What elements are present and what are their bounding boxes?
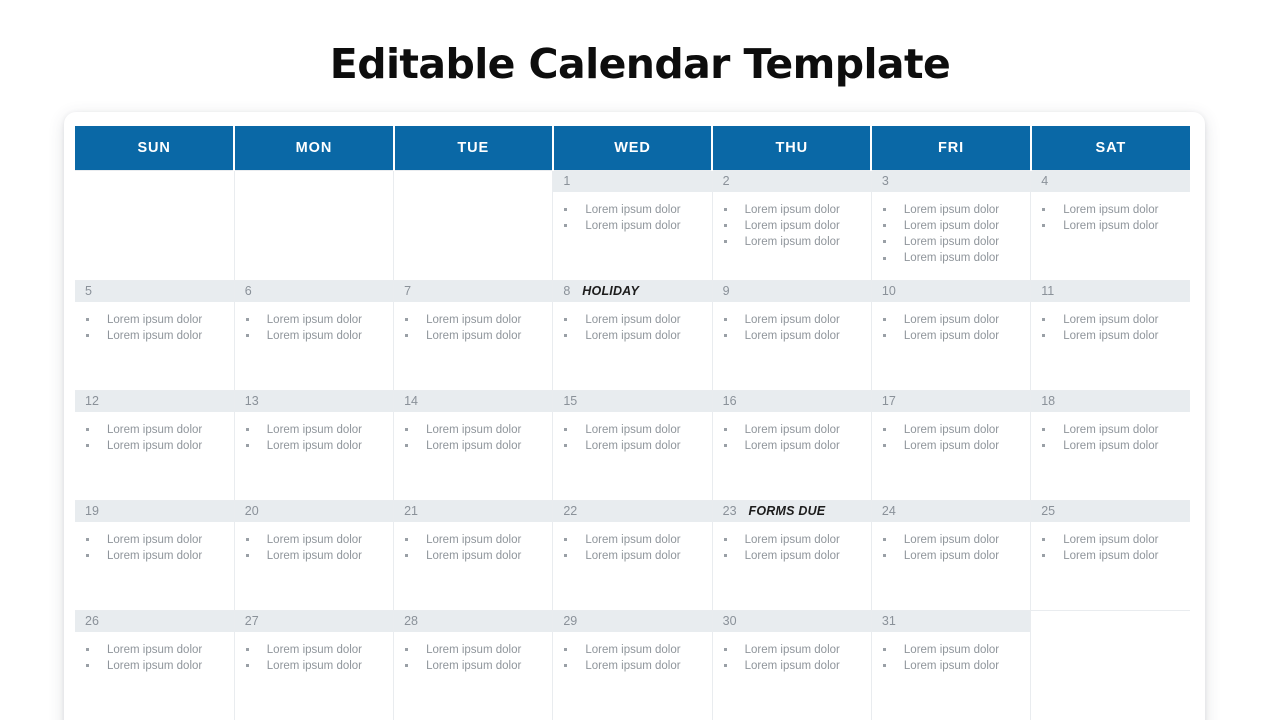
date-number: 19 (85, 505, 99, 518)
date-number: 8 (563, 285, 570, 298)
calendar-day-cell-21[interactable]: 21Lorem ipsum dolorLorem ipsum dolor (394, 500, 553, 610)
date-number: 22 (563, 505, 577, 518)
day-event-list: Lorem ipsum dolorLorem ipsum dolor (235, 522, 393, 564)
calendar-day-cell-26[interactable]: 26Lorem ipsum dolorLorem ipsum dolor (75, 610, 234, 720)
day-event-item[interactable]: Lorem ipsum dolor (723, 642, 865, 658)
day-event-list: Lorem ipsum dolorLorem ipsum dolor (553, 522, 711, 564)
date-band: 29 (553, 611, 711, 632)
day-event-item[interactable]: Lorem ipsum dolor (1041, 422, 1184, 438)
date-band: 8HOLIDAY (553, 281, 711, 302)
date-band: 26 (75, 611, 234, 632)
day-event-item[interactable]: Lorem ipsum dolor (563, 218, 705, 234)
day-event-list: Lorem ipsum dolorLorem ipsum dolor (553, 412, 711, 454)
day-event-item[interactable]: Lorem ipsum dolor (85, 328, 228, 344)
day-event-item[interactable]: Lorem ipsum dolor (1041, 328, 1184, 344)
day-event-item[interactable]: Lorem ipsum dolor (1041, 218, 1184, 234)
day-event-item[interactable]: Lorem ipsum dolor (1041, 532, 1184, 548)
day-event-item[interactable]: Lorem ipsum dolor (563, 642, 705, 658)
day-event-item[interactable]: Lorem ipsum dolor (882, 548, 1024, 564)
calendar-week-row: 5Lorem ipsum dolorLorem ipsum dolor6Lore… (75, 280, 1190, 390)
day-event-item[interactable]: Lorem ipsum dolor (882, 234, 1024, 250)
date-band (75, 171, 234, 192)
day-event-list: Lorem ipsum dolorLorem ipsum dolor (553, 632, 711, 674)
day-event-list: Lorem ipsum dolorLorem ipsum dolor (1031, 412, 1190, 454)
date-number: 15 (563, 395, 577, 408)
day-event-item[interactable]: Lorem ipsum dolor (404, 642, 546, 658)
day-event-item[interactable]: Lorem ipsum dolor (85, 642, 228, 658)
day-event-item[interactable]: Lorem ipsum dolor (723, 532, 865, 548)
date-number: 20 (245, 505, 259, 518)
day-event-item[interactable]: Lorem ipsum dolor (1041, 438, 1184, 454)
date-number: 23 (723, 505, 737, 518)
calendar-day-cell-15[interactable]: 15Lorem ipsum dolorLorem ipsum dolor (553, 390, 712, 500)
day-event-list: Lorem ipsum dolorLorem ipsum dolor (75, 302, 234, 344)
date-number: 7 (404, 285, 411, 298)
calendar-day-cell-19[interactable]: 19Lorem ipsum dolorLorem ipsum dolor (75, 500, 234, 610)
calendar-day-cell-5[interactable]: 5Lorem ipsum dolorLorem ipsum dolor (75, 280, 234, 390)
day-event-item[interactable]: Lorem ipsum dolor (404, 422, 546, 438)
calendar-page: Editable Calendar Template SUNMONTUEWEDT… (0, 0, 1280, 720)
calendar-table: SUNMONTUEWEDTHUFRISAT 1Lorem ipsum dolor… (75, 126, 1190, 720)
date-number: 18 (1041, 395, 1055, 408)
day-event-item[interactable]: Lorem ipsum dolor (404, 548, 546, 564)
date-number: 11 (1041, 285, 1054, 298)
day-event-list: Lorem ipsum dolorLorem ipsum dolor (235, 412, 393, 454)
calendar-body: 1Lorem ipsum dolorLorem ipsum dolor2Lore… (75, 170, 1190, 720)
day-event-item[interactable]: Lorem ipsum dolor (245, 312, 387, 328)
date-number: 29 (563, 615, 577, 628)
day-event-item[interactable]: Lorem ipsum dolor (245, 642, 387, 658)
day-event-item[interactable]: Lorem ipsum dolor (563, 548, 705, 564)
day-event-item[interactable]: Lorem ipsum dolor (404, 658, 546, 674)
date-band: 9 (713, 281, 871, 302)
day-event-item[interactable]: Lorem ipsum dolor (723, 438, 865, 454)
day-event-item[interactable]: Lorem ipsum dolor (563, 422, 705, 438)
day-event-item[interactable]: Lorem ipsum dolor (85, 532, 228, 548)
day-event-item[interactable]: Lorem ipsum dolor (245, 548, 387, 564)
calendar-day-cell-16[interactable]: 16Lorem ipsum dolorLorem ipsum dolor (712, 390, 871, 500)
day-event-item[interactable]: Lorem ipsum dolor (723, 548, 865, 564)
date-number: 4 (1041, 175, 1048, 188)
calendar-day-cell-8[interactable]: 8HOLIDAYLorem ipsum dolorLorem ipsum dol… (553, 280, 712, 390)
calendar-day-cell-6[interactable]: 6Lorem ipsum dolorLorem ipsum dolor (234, 280, 393, 390)
calendar-day-cell-13[interactable]: 13Lorem ipsum dolorLorem ipsum dolor (234, 390, 393, 500)
day-event-list: Lorem ipsum dolorLorem ipsum dolor (75, 412, 234, 454)
date-number: 10 (882, 285, 896, 298)
calendar-day-cell-1[interactable]: 1Lorem ipsum dolorLorem ipsum dolor (553, 170, 712, 280)
day-event-item[interactable]: Lorem ipsum dolor (723, 312, 865, 328)
calendar-day-cell-22[interactable]: 22Lorem ipsum dolorLorem ipsum dolor (553, 500, 712, 610)
date-band: 13 (235, 391, 393, 412)
day-event-item[interactable]: Lorem ipsum dolor (882, 658, 1024, 674)
date-band: 14 (394, 391, 552, 412)
page-title: Editable Calendar Template (0, 40, 1280, 88)
date-band: 21 (394, 501, 552, 522)
calendar-day-cell-30[interactable]: 30Lorem ipsum dolorLorem ipsum dolor (712, 610, 871, 720)
weekday-header-mon: MON (234, 126, 393, 170)
day-event-item[interactable]: Lorem ipsum dolor (882, 438, 1024, 454)
day-event-item[interactable]: Lorem ipsum dolor (723, 422, 865, 438)
day-event-item[interactable]: Lorem ipsum dolor (404, 328, 546, 344)
calendar-day-cell-12[interactable]: 12Lorem ipsum dolorLorem ipsum dolor (75, 390, 234, 500)
date-band: 24 (872, 501, 1030, 522)
date-band (394, 171, 552, 192)
day-event-item[interactable]: Lorem ipsum dolor (404, 312, 546, 328)
date-band (1031, 611, 1190, 632)
calendar-day-cell-18[interactable]: 18Lorem ipsum dolorLorem ipsum dolor (1031, 390, 1190, 500)
calendar-day-cell-23[interactable]: 23FORMS DUELorem ipsum dolorLorem ipsum … (712, 500, 871, 610)
date-number: 21 (404, 505, 418, 518)
weekday-header-fri: FRI (871, 126, 1030, 170)
day-event-list: Lorem ipsum dolorLorem ipsum dolorLorem … (872, 192, 1030, 267)
date-band: 23FORMS DUE (713, 501, 871, 522)
calendar-day-cell-2[interactable]: 2Lorem ipsum dolorLorem ipsum dolorLorem… (712, 170, 871, 280)
day-event-list: Lorem ipsum dolorLorem ipsum dolor (553, 302, 711, 344)
day-event-item[interactable]: Lorem ipsum dolor (723, 218, 865, 234)
day-event-item[interactable]: Lorem ipsum dolor (882, 642, 1024, 658)
calendar-day-cell-empty[interactable] (75, 170, 234, 280)
date-number: 14 (404, 395, 418, 408)
day-event-item[interactable]: Lorem ipsum dolor (85, 312, 228, 328)
calendar-day-cell-3[interactable]: 3Lorem ipsum dolorLorem ipsum dolorLorem… (871, 170, 1030, 280)
day-event-item[interactable]: Lorem ipsum dolor (882, 250, 1024, 266)
day-event-list: Lorem ipsum dolorLorem ipsum dolor (872, 522, 1030, 564)
calendar-week-row: 19Lorem ipsum dolorLorem ipsum dolor20Lo… (75, 500, 1190, 610)
day-event-item[interactable]: Lorem ipsum dolor (85, 438, 228, 454)
calendar-week-row: 12Lorem ipsum dolorLorem ipsum dolor13Lo… (75, 390, 1190, 500)
day-event-item[interactable]: Lorem ipsum dolor (245, 328, 387, 344)
day-event-list: Lorem ipsum dolorLorem ipsum dolor (75, 522, 234, 564)
calendar-day-cell-31[interactable]: 31Lorem ipsum dolorLorem ipsum dolor (871, 610, 1030, 720)
date-band: 7 (394, 281, 552, 302)
date-band (235, 171, 393, 192)
date-band: 6 (235, 281, 393, 302)
day-event-item[interactable]: Lorem ipsum dolor (563, 658, 705, 674)
date-band: 25 (1031, 501, 1190, 522)
date-number: 17 (882, 395, 896, 408)
date-number: 25 (1041, 505, 1055, 518)
date-number: 1 (563, 175, 570, 188)
day-event-list: Lorem ipsum dolorLorem ipsum dolorLorem … (713, 192, 871, 251)
day-event-list: Lorem ipsum dolorLorem ipsum dolor (394, 522, 552, 564)
calendar-day-cell-empty[interactable] (394, 170, 553, 280)
date-band: 10 (872, 281, 1030, 302)
day-event-list: Lorem ipsum dolorLorem ipsum dolor (394, 412, 552, 454)
date-band: 11 (1031, 281, 1190, 302)
day-event-item[interactable]: Lorem ipsum dolor (85, 658, 228, 674)
day-event-item[interactable]: Lorem ipsum dolor (1041, 312, 1184, 328)
day-event-item[interactable]: Lorem ipsum dolor (563, 312, 705, 328)
calendar-week-row: 1Lorem ipsum dolorLorem ipsum dolor2Lore… (75, 170, 1190, 280)
date-band: 27 (235, 611, 393, 632)
date-band: 1 (553, 171, 711, 192)
date-number: 12 (85, 395, 99, 408)
date-number: 3 (882, 175, 889, 188)
calendar-day-cell-empty[interactable] (234, 170, 393, 280)
day-event-item[interactable]: Lorem ipsum dolor (563, 438, 705, 454)
calendar-day-cell-27[interactable]: 27Lorem ipsum dolorLorem ipsum dolor (234, 610, 393, 720)
calendar-day-cell-29[interactable]: 29Lorem ipsum dolorLorem ipsum dolor (553, 610, 712, 720)
calendar-day-cell-9[interactable]: 9Lorem ipsum dolorLorem ipsum dolor (712, 280, 871, 390)
date-number: 31 (882, 615, 896, 628)
day-event-item[interactable]: Lorem ipsum dolor (404, 438, 546, 454)
day-event-list: Lorem ipsum dolorLorem ipsum dolor (872, 412, 1030, 454)
day-event-list: Lorem ipsum dolorLorem ipsum dolor (75, 632, 234, 674)
date-band: 2 (713, 171, 871, 192)
date-band: 4 (1031, 171, 1190, 192)
day-event-item[interactable]: Lorem ipsum dolor (1041, 202, 1184, 218)
date-number: 13 (245, 395, 259, 408)
day-event-list: Lorem ipsum dolorLorem ipsum dolor (1031, 192, 1190, 234)
date-band: 31 (872, 611, 1030, 632)
day-event-item[interactable]: Lorem ipsum dolor (404, 532, 546, 548)
date-number: 28 (404, 615, 418, 628)
day-event-item[interactable]: Lorem ipsum dolor (882, 202, 1024, 218)
day-event-item[interactable]: Lorem ipsum dolor (245, 532, 387, 548)
day-event-list: Lorem ipsum dolorLorem ipsum dolor (1031, 522, 1190, 564)
day-event-list: Lorem ipsum dolorLorem ipsum dolor (394, 302, 552, 344)
calendar-header-row: SUNMONTUEWEDTHUFRISAT (75, 126, 1190, 170)
date-number: 30 (723, 615, 737, 628)
date-band: 22 (553, 501, 711, 522)
date-number: 2 (723, 175, 730, 188)
day-event-item[interactable]: Lorem ipsum dolor (882, 328, 1024, 344)
day-event-item[interactable]: Lorem ipsum dolor (882, 532, 1024, 548)
day-event-item[interactable]: Lorem ipsum dolor (882, 422, 1024, 438)
day-event-item[interactable]: Lorem ipsum dolor (85, 422, 228, 438)
calendar-day-cell-empty[interactable] (1031, 610, 1190, 720)
date-number: 27 (245, 615, 259, 628)
date-number: 5 (85, 285, 92, 298)
date-band: 20 (235, 501, 393, 522)
date-band: 16 (713, 391, 871, 412)
calendar-day-cell-14[interactable]: 14Lorem ipsum dolorLorem ipsum dolor (394, 390, 553, 500)
day-event-list: Lorem ipsum dolorLorem ipsum dolor (872, 302, 1030, 344)
day-event-list: Lorem ipsum dolorLorem ipsum dolor (235, 632, 393, 674)
day-event-item[interactable]: Lorem ipsum dolor (563, 202, 705, 218)
date-band: 19 (75, 501, 234, 522)
date-band: 30 (713, 611, 871, 632)
day-event-list: Lorem ipsum dolorLorem ipsum dolor (713, 522, 871, 564)
day-event-item[interactable]: Lorem ipsum dolor (563, 328, 705, 344)
calendar-day-cell-7[interactable]: 7Lorem ipsum dolorLorem ipsum dolor (394, 280, 553, 390)
day-event-list: Lorem ipsum dolorLorem ipsum dolor (872, 632, 1030, 674)
date-band: 12 (75, 391, 234, 412)
calendar-day-cell-10[interactable]: 10Lorem ipsum dolorLorem ipsum dolor (871, 280, 1030, 390)
calendar-day-cell-4[interactable]: 4Lorem ipsum dolorLorem ipsum dolor (1031, 170, 1190, 280)
calendar-day-cell-24[interactable]: 24Lorem ipsum dolorLorem ipsum dolor (871, 500, 1030, 610)
date-band: 15 (553, 391, 711, 412)
day-note-label[interactable]: HOLIDAY (582, 285, 639, 298)
calendar-day-cell-28[interactable]: 28Lorem ipsum dolorLorem ipsum dolor (394, 610, 553, 720)
day-event-list: Lorem ipsum dolorLorem ipsum dolor (713, 412, 871, 454)
weekday-header-tue: TUE (394, 126, 553, 170)
day-event-item[interactable]: Lorem ipsum dolor (85, 548, 228, 564)
weekday-header-sun: SUN (75, 126, 234, 170)
calendar-day-cell-17[interactable]: 17Lorem ipsum dolorLorem ipsum dolor (871, 390, 1030, 500)
day-event-item[interactable]: Lorem ipsum dolor (1041, 548, 1184, 564)
date-band: 17 (872, 391, 1030, 412)
weekday-header-thu: THU (712, 126, 871, 170)
day-event-item[interactable]: Lorem ipsum dolor (882, 312, 1024, 328)
calendar-day-cell-25[interactable]: 25Lorem ipsum dolorLorem ipsum dolor (1031, 500, 1190, 610)
date-number: 9 (723, 285, 730, 298)
weekday-header-wed: WED (553, 126, 712, 170)
day-note-label[interactable]: FORMS DUE (749, 505, 826, 518)
date-band: 28 (394, 611, 552, 632)
day-event-item[interactable]: Lorem ipsum dolor (245, 438, 387, 454)
date-number: 26 (85, 615, 99, 628)
calendar-day-cell-11[interactable]: 11Lorem ipsum dolorLorem ipsum dolor (1031, 280, 1190, 390)
day-event-list: Lorem ipsum dolorLorem ipsum dolor (1031, 302, 1190, 344)
date-number: 6 (245, 285, 252, 298)
day-event-list: Lorem ipsum dolorLorem ipsum dolor (394, 632, 552, 674)
day-event-item[interactable]: Lorem ipsum dolor (245, 658, 387, 674)
date-band: 3 (872, 171, 1030, 192)
day-event-list: Lorem ipsum dolorLorem ipsum dolor (553, 192, 711, 234)
day-event-item[interactable]: Lorem ipsum dolor (723, 202, 865, 218)
date-number: 16 (723, 395, 737, 408)
day-event-item[interactable]: Lorem ipsum dolor (723, 328, 865, 344)
calendar-week-row: 26Lorem ipsum dolorLorem ipsum dolor27Lo… (75, 610, 1190, 720)
day-event-item[interactable]: Lorem ipsum dolor (882, 218, 1024, 234)
day-event-list: Lorem ipsum dolorLorem ipsum dolor (235, 302, 393, 344)
weekday-header-sat: SAT (1031, 126, 1190, 170)
day-event-list: Lorem ipsum dolorLorem ipsum dolor (713, 632, 871, 674)
day-event-item[interactable]: Lorem ipsum dolor (563, 532, 705, 548)
date-band: 5 (75, 281, 234, 302)
date-number: 24 (882, 505, 896, 518)
day-event-item[interactable]: Lorem ipsum dolor (723, 658, 865, 674)
date-band: 18 (1031, 391, 1190, 412)
day-event-list: Lorem ipsum dolorLorem ipsum dolor (713, 302, 871, 344)
calendar-day-cell-20[interactable]: 20Lorem ipsum dolorLorem ipsum dolor (234, 500, 393, 610)
day-event-item[interactable]: Lorem ipsum dolor (245, 422, 387, 438)
day-event-item[interactable]: Lorem ipsum dolor (723, 234, 865, 250)
